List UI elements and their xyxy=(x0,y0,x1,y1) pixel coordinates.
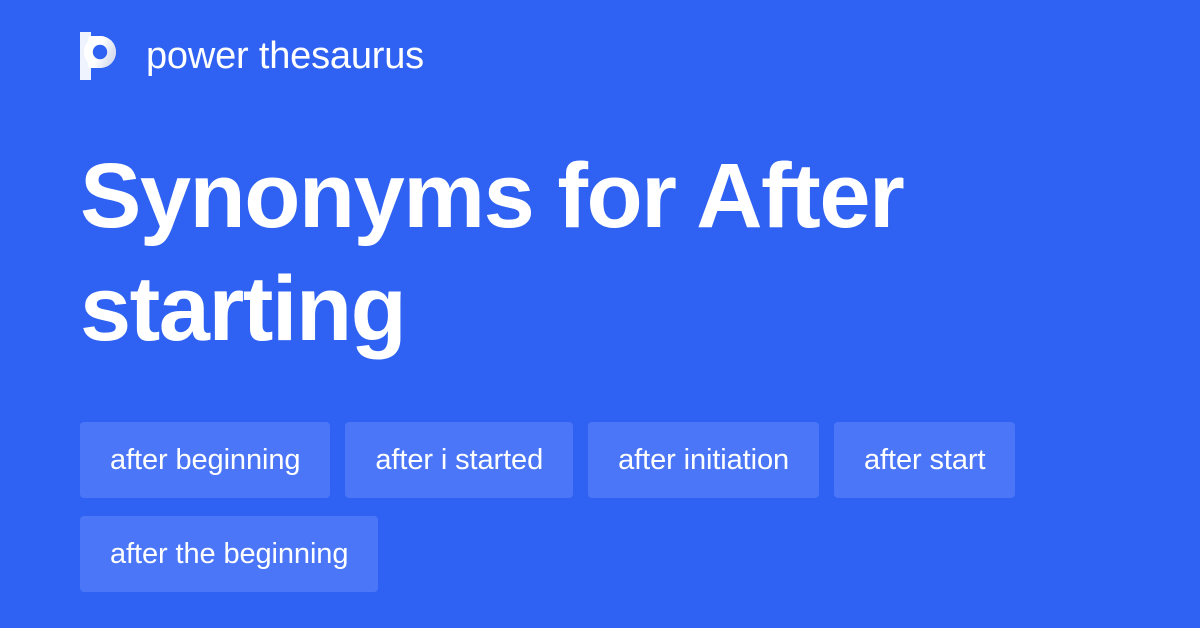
synonym-chip[interactable]: after i started xyxy=(345,422,573,498)
synonym-chip[interactable]: after initiation xyxy=(588,422,819,498)
synonym-chip[interactable]: after start xyxy=(834,422,1015,498)
synonym-chip-list: after beginning after i started after in… xyxy=(80,422,1120,592)
power-thesaurus-b-logo-icon xyxy=(80,32,124,80)
synonym-chip[interactable]: after the beginning xyxy=(80,516,378,592)
brand-header[interactable]: power thesaurus xyxy=(80,28,424,84)
page-title: Synonyms for After starting xyxy=(80,140,980,366)
brand-name-label: power thesaurus xyxy=(146,37,424,75)
synonym-chip[interactable]: after beginning xyxy=(80,422,330,498)
